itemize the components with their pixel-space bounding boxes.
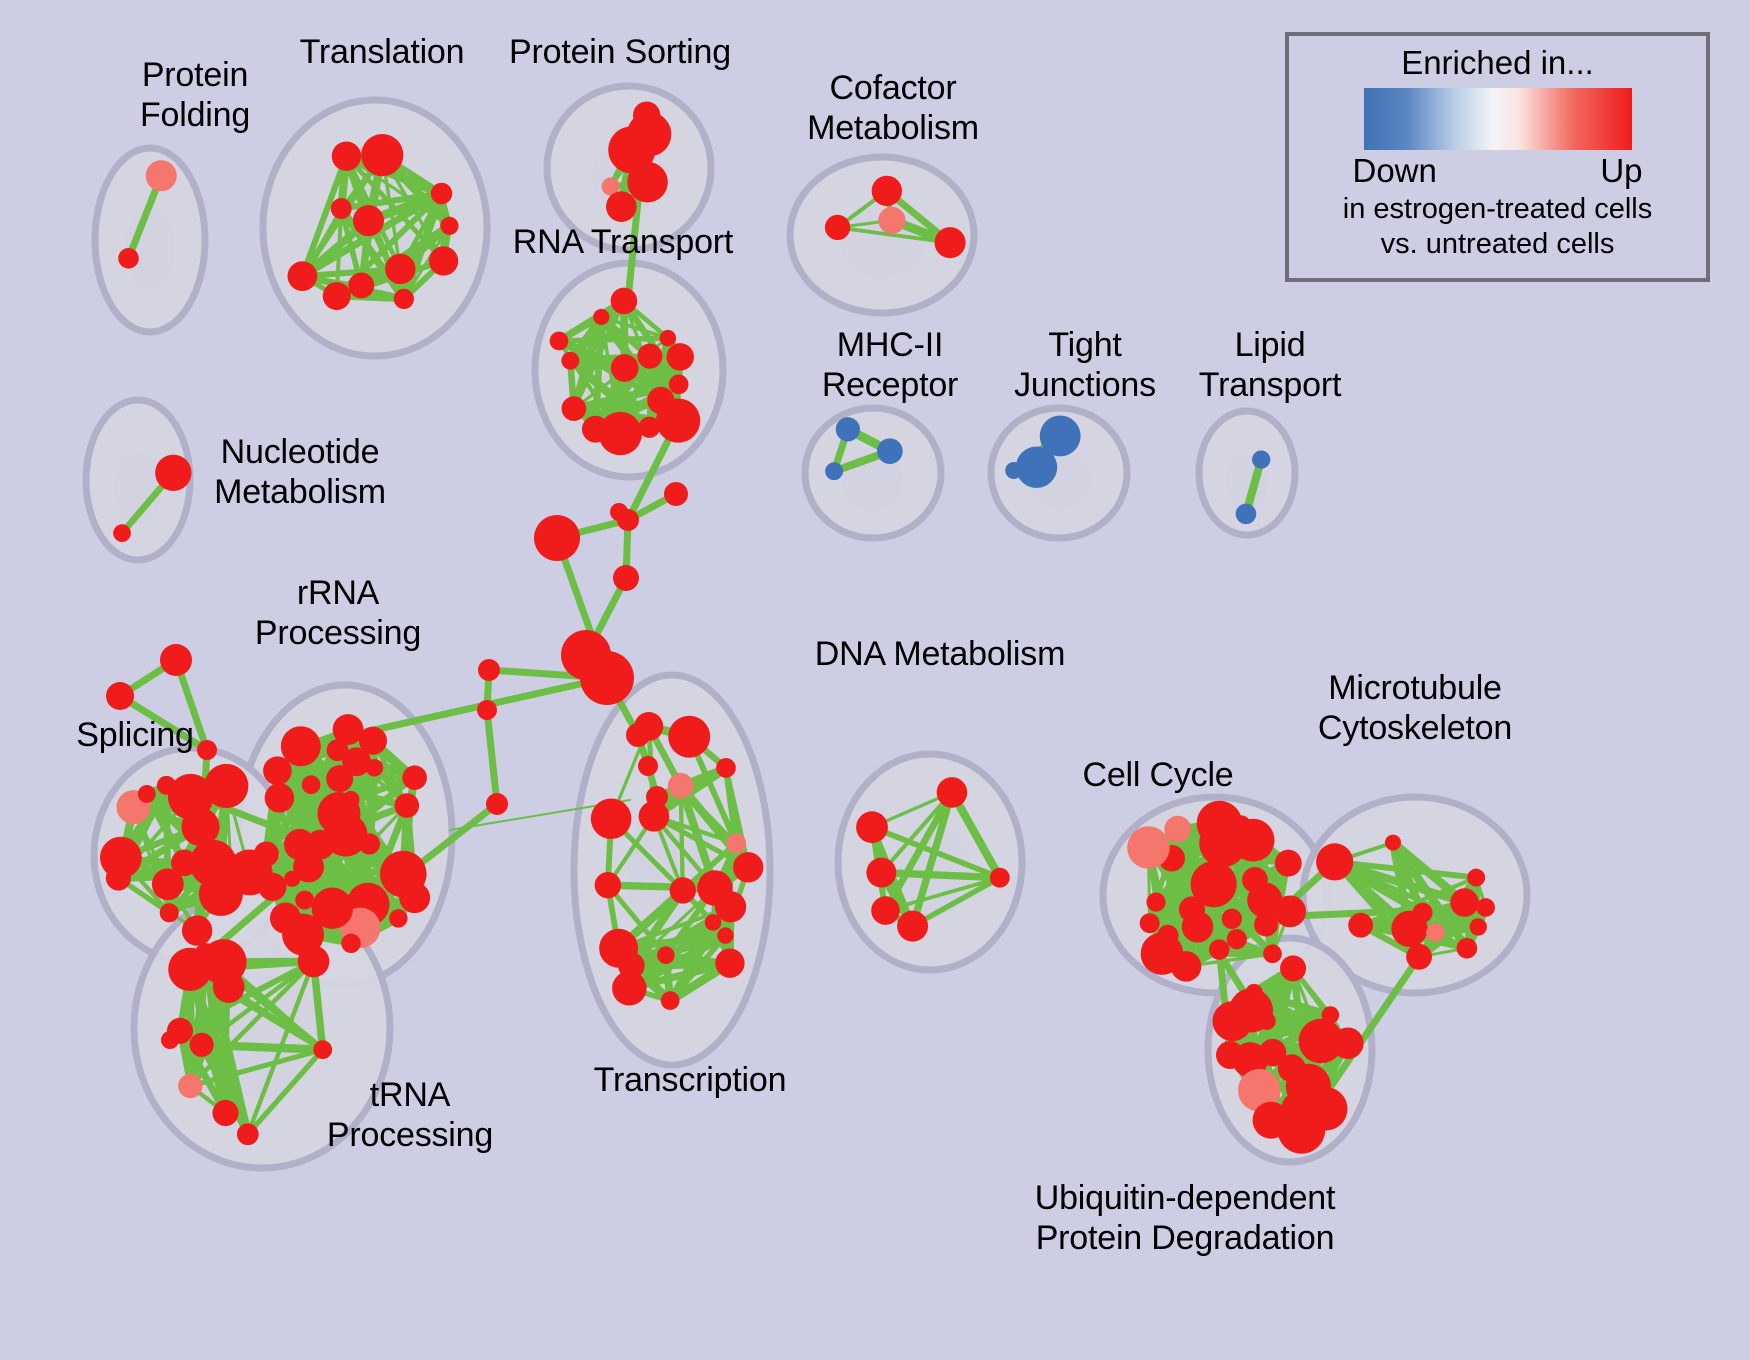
network-node[interactable] <box>1385 835 1401 851</box>
network-node[interactable] <box>190 1033 214 1057</box>
cluster-label-splicing[interactable]: Splicing <box>55 715 215 755</box>
network-node[interactable] <box>478 659 500 681</box>
network-node[interactable] <box>263 756 292 785</box>
network-node[interactable] <box>897 911 928 942</box>
network-node[interactable] <box>1252 450 1270 468</box>
network-node[interactable] <box>591 798 632 839</box>
network-node[interactable] <box>348 272 374 298</box>
network-node[interactable] <box>1332 1027 1364 1059</box>
network-node[interactable] <box>237 1123 259 1145</box>
network-edge <box>487 710 497 804</box>
network-node[interactable] <box>562 396 587 421</box>
network-node[interactable] <box>717 927 733 943</box>
network-node[interactable] <box>287 261 317 291</box>
network-node[interactable] <box>1457 938 1478 959</box>
network-node[interactable] <box>1171 951 1202 982</box>
network-node[interactable] <box>1470 918 1487 935</box>
network-node[interactable] <box>733 852 763 882</box>
network-node[interactable] <box>637 344 662 369</box>
network-node[interactable] <box>726 833 746 853</box>
network-node[interactable] <box>705 914 722 931</box>
network-node[interactable] <box>1253 1102 1290 1139</box>
network-node[interactable] <box>160 903 179 922</box>
network-node[interactable] <box>284 829 315 860</box>
network-node[interactable] <box>1236 504 1257 525</box>
network-node[interactable] <box>1140 913 1160 933</box>
network-node[interactable] <box>534 515 580 561</box>
network-node[interactable] <box>394 793 419 818</box>
network-node[interactable] <box>669 375 689 395</box>
cluster-label-mhc-ii-receptor[interactable]: MHC-II Receptor <box>780 325 1000 405</box>
network-node[interactable] <box>836 417 860 441</box>
network-node[interactable] <box>667 343 694 370</box>
network-node[interactable] <box>1406 944 1432 970</box>
network-node[interactable] <box>138 785 156 803</box>
network-node[interactable] <box>213 971 245 1003</box>
cluster-label-trna-processing[interactable]: tRNA Processing <box>300 1075 520 1155</box>
network-node[interactable] <box>580 651 634 705</box>
network-node[interactable] <box>204 764 248 808</box>
network-canvas: Protein FoldingTranslationProtein Sortin… <box>0 0 1750 1360</box>
network-edge <box>369 768 374 844</box>
network-node[interactable] <box>657 946 675 964</box>
legend-gradient-bar <box>1364 88 1632 150</box>
network-node[interactable] <box>295 891 314 910</box>
network-node[interactable] <box>341 934 360 953</box>
network-node[interactable] <box>212 1100 238 1126</box>
network-node[interactable] <box>866 858 896 888</box>
network-node[interactable] <box>1259 1039 1286 1066</box>
network-node[interactable] <box>152 868 184 900</box>
network-node[interactable] <box>394 289 414 309</box>
network-node[interactable] <box>1164 816 1191 843</box>
cluster-label-rrna-processing[interactable]: rRNA Processing <box>228 573 448 653</box>
cluster-label-cofactor-metabolism[interactable]: Cofactor Metabolism <box>783 68 1003 148</box>
network-node[interactable] <box>613 565 639 591</box>
network-node[interactable] <box>716 758 736 778</box>
network-node[interactable] <box>606 191 637 222</box>
network-node[interactable] <box>872 176 902 206</box>
network-node[interactable] <box>1450 888 1479 917</box>
network-node[interactable] <box>1391 911 1427 947</box>
cluster-label-transcription[interactable]: Transcription <box>570 1060 810 1100</box>
network-node[interactable] <box>182 915 212 945</box>
network-node[interactable] <box>431 183 453 205</box>
network-node[interactable] <box>561 352 579 370</box>
network-node[interactable] <box>385 254 415 284</box>
cluster-label-protein-sorting[interactable]: Protein Sorting <box>500 32 740 72</box>
network-node[interactable] <box>353 205 384 236</box>
network-node[interactable] <box>313 1040 332 1059</box>
network-node[interactable] <box>361 134 403 176</box>
network-node[interactable] <box>1227 929 1247 949</box>
network-node[interactable] <box>638 756 658 776</box>
network-node[interactable] <box>661 991 680 1010</box>
network-node[interactable] <box>668 773 694 799</box>
network-node[interactable] <box>1426 923 1445 942</box>
network-node[interactable] <box>1245 984 1262 1001</box>
network-node[interactable] <box>878 207 905 234</box>
network-node[interactable] <box>161 1031 179 1049</box>
network-node[interactable] <box>402 765 427 790</box>
network-node[interactable] <box>582 416 609 443</box>
network-node[interactable] <box>429 246 458 275</box>
network-node[interactable] <box>399 882 430 913</box>
network-node[interactable] <box>660 330 677 347</box>
network-node[interactable] <box>1286 1064 1331 1109</box>
network-node[interactable] <box>1191 861 1237 907</box>
network-node[interactable] <box>1222 909 1242 929</box>
network-node[interactable] <box>118 248 139 269</box>
legend-low-label: Down <box>1353 152 1437 190</box>
network-node[interactable] <box>342 747 371 776</box>
network-node[interactable] <box>668 716 710 758</box>
network-node[interactable] <box>389 909 408 928</box>
network-node[interactable] <box>1182 911 1214 943</box>
network-node[interactable] <box>937 777 968 808</box>
network-node[interactable] <box>825 462 843 480</box>
network-node[interactable] <box>486 793 508 815</box>
network-node[interactable] <box>113 524 131 542</box>
network-node[interactable] <box>550 332 569 351</box>
network-node[interactable] <box>990 868 1010 888</box>
cluster-label-ubiquitin-dependent-protein-degradation[interactable]: Ubiquitin-dependent Protein Degradation <box>1010 1178 1360 1258</box>
network-node[interactable] <box>611 354 639 382</box>
network-node[interactable] <box>599 929 638 968</box>
legend-endpoints: Down Up <box>1353 152 1643 190</box>
network-node[interactable] <box>298 946 330 978</box>
network-node[interactable] <box>265 783 295 813</box>
network-node[interactable] <box>608 126 655 173</box>
network-node[interactable] <box>1263 944 1282 963</box>
network-node[interactable] <box>825 215 850 240</box>
network-node[interactable] <box>1280 955 1306 981</box>
cluster-label-dna-metabolism[interactable]: DNA Metabolism <box>800 634 1080 674</box>
network-node[interactable] <box>160 644 192 676</box>
network-node[interactable] <box>1016 447 1057 488</box>
network-node[interactable] <box>146 160 177 191</box>
network-node[interactable] <box>626 723 650 747</box>
network-node[interactable] <box>610 503 628 521</box>
network-node[interactable] <box>647 387 674 414</box>
network-node[interactable] <box>1258 1012 1276 1030</box>
network-node[interactable] <box>697 870 733 906</box>
network-node[interactable] <box>178 1074 202 1098</box>
network-node[interactable] <box>155 455 191 491</box>
cluster-label-cell-cycle[interactable]: Cell Cycle <box>1048 755 1268 795</box>
network-node[interactable] <box>440 217 458 235</box>
network-node[interactable] <box>1146 893 1165 912</box>
network-node[interactable] <box>332 142 361 171</box>
network-node[interactable] <box>871 896 900 925</box>
network-node[interactable] <box>1467 869 1485 887</box>
legend-panel: Enriched in... Down Up in estrogen-treat… <box>1285 32 1710 282</box>
network-node[interactable] <box>935 227 966 258</box>
network-node[interactable] <box>1476 898 1495 917</box>
network-node[interactable] <box>1348 913 1373 938</box>
network-node[interactable] <box>359 833 380 854</box>
network-node[interactable] <box>181 808 219 846</box>
network-node[interactable] <box>331 198 352 219</box>
network-node[interactable] <box>612 971 646 1005</box>
cluster-label-lipid-transport[interactable]: Lipid Transport <box>1160 325 1380 405</box>
network-node[interactable] <box>342 791 360 809</box>
network-node[interactable] <box>1275 850 1302 877</box>
network-node[interactable] <box>1316 843 1353 880</box>
network-node[interactable] <box>284 871 300 887</box>
network-node[interactable] <box>323 282 351 310</box>
legend-title: Enriched in... <box>1401 44 1594 82</box>
cluster-label-rna-transport[interactable]: RNA Transport <box>508 222 738 262</box>
legend-subtitle: in estrogen-treated cells vs. untreated … <box>1343 192 1653 262</box>
network-node[interactable] <box>877 438 903 464</box>
network-node[interactable] <box>715 948 744 977</box>
network-node[interactable] <box>595 872 621 898</box>
network-node[interactable] <box>670 877 696 903</box>
network-node[interactable] <box>100 837 142 879</box>
network-node[interactable] <box>1127 826 1169 868</box>
network-node[interactable] <box>1209 939 1229 959</box>
network-node[interactable] <box>1157 925 1179 947</box>
legend-high-label: Up <box>1600 152 1642 190</box>
network-node[interactable] <box>611 288 638 315</box>
network-node[interactable] <box>168 948 211 991</box>
network-edge <box>202 1045 323 1050</box>
network-node[interactable] <box>216 857 248 889</box>
network-node[interactable] <box>593 309 609 325</box>
network-node[interactable] <box>106 682 134 710</box>
network-node[interactable] <box>646 786 668 808</box>
cluster-label-translation[interactable]: Translation <box>272 32 492 72</box>
cluster-label-microtubule-cytoskeleton[interactable]: Microtubule Cytoskeleton <box>1290 668 1540 748</box>
cluster-label-nucleotide-metabolism[interactable]: Nucleotide Metabolism <box>190 432 410 512</box>
network-node[interactable] <box>302 775 321 794</box>
network-node[interactable] <box>1247 883 1282 918</box>
network-node[interactable] <box>477 700 497 720</box>
network-node[interactable] <box>664 482 688 506</box>
network-node[interactable] <box>1231 815 1251 835</box>
network-node[interactable] <box>856 811 888 843</box>
